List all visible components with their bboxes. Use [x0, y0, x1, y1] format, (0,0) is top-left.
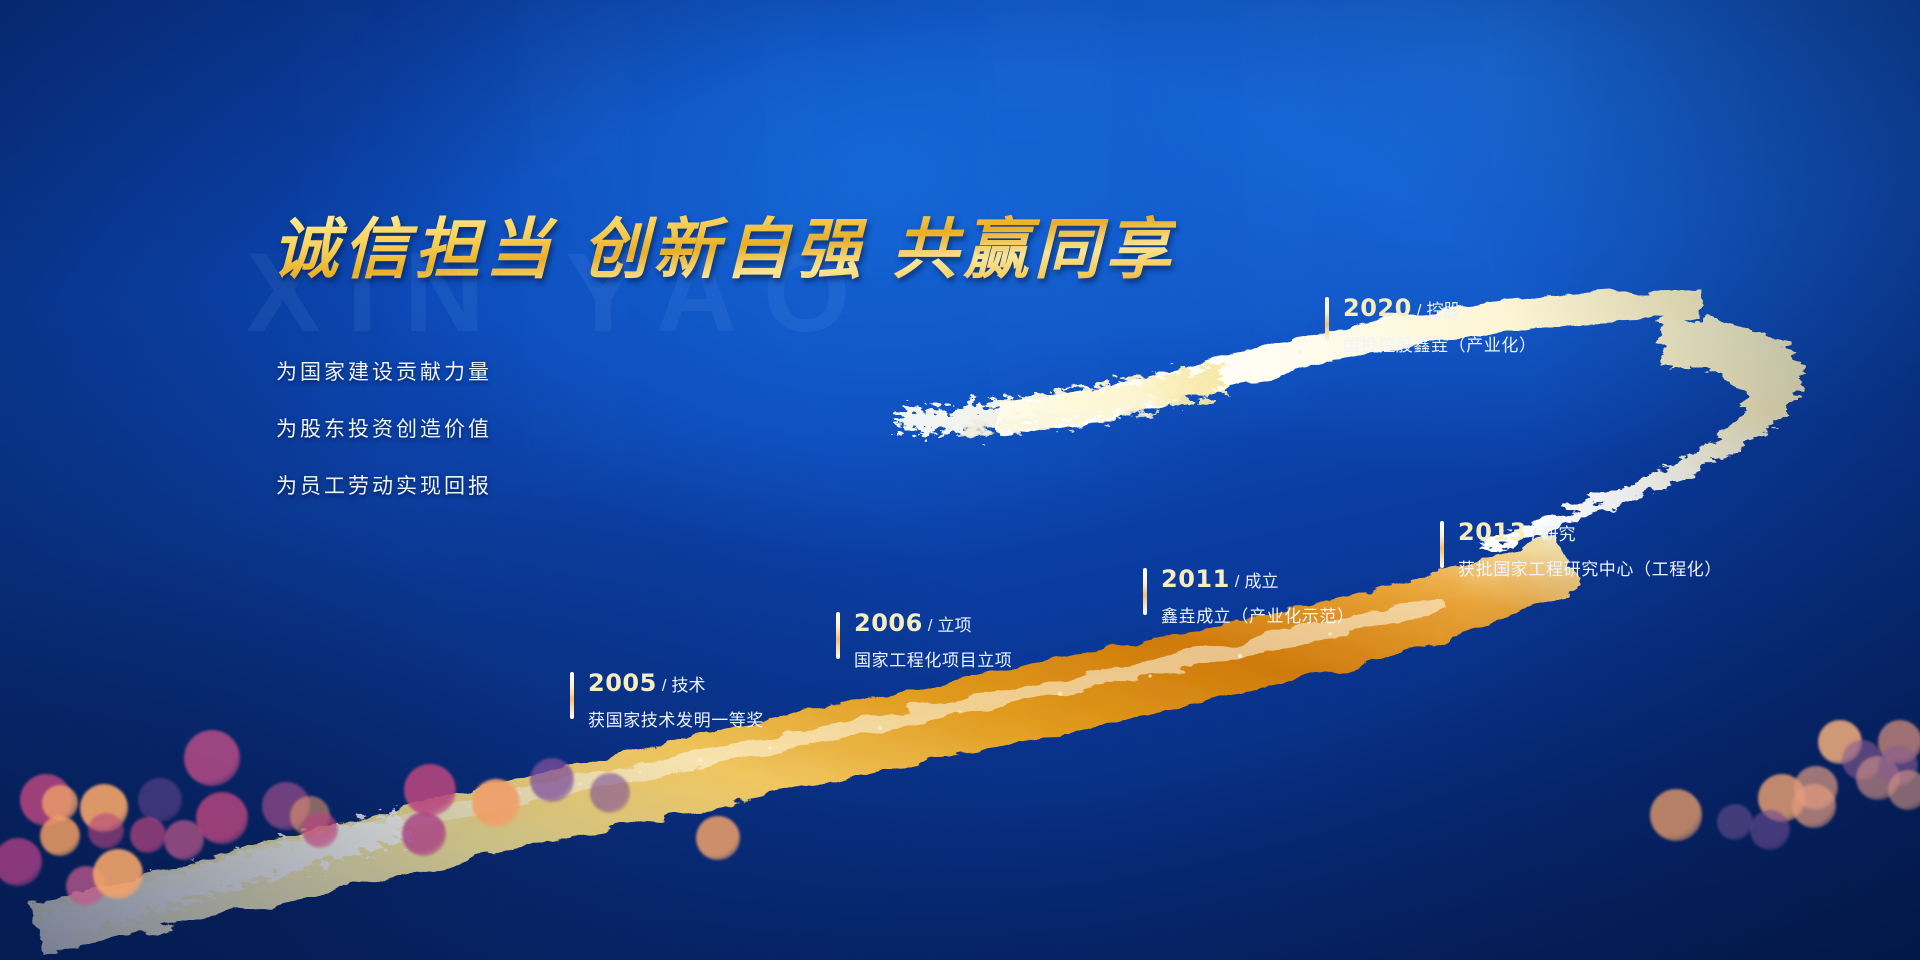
- milestone-description: 国投控股鑫垚（产业化）: [1343, 331, 1537, 356]
- headline-part-1: 诚信担当: [272, 211, 556, 288]
- banner-canvas: XIN YAO 诚信担当创新自强共赢同享 为国家建设贡献力量 为股东投资创造价值…: [0, 0, 1920, 960]
- bokeh-circle: [1750, 810, 1790, 850]
- milestone-tick-icon: [1440, 521, 1444, 568]
- milestone-kind: 控股: [1427, 301, 1461, 321]
- milestone-year: 2005: [588, 669, 657, 697]
- milestone-kind: 立项: [938, 616, 972, 636]
- bokeh-circle: [40, 816, 80, 856]
- bokeh-circle: [130, 817, 166, 853]
- milestone-heading: 2011/成立: [1161, 565, 1355, 593]
- milestone-text: 2005/技术获国家技术发明一等奖: [588, 669, 764, 731]
- page-title: 诚信担当创新自强共赢同享: [272, 196, 1176, 292]
- light-shaft: [760, 0, 820, 960]
- milestone-year: 2006: [854, 609, 923, 637]
- bokeh-circle: [42, 785, 78, 821]
- bokeh-circle: [0, 838, 42, 886]
- milestone-kind: 成立: [1245, 572, 1279, 592]
- milestone-separator: /: [1532, 525, 1537, 544]
- milestone-separator: /: [662, 676, 667, 695]
- bokeh-circle: [472, 779, 520, 827]
- milestone-heading: 2006/立项: [854, 609, 1012, 637]
- slogan-line: 为股东投资创造价值: [276, 413, 492, 443]
- bokeh-circle: [696, 816, 740, 860]
- slogan-line: 为国家建设贡献力量: [276, 356, 492, 386]
- milestone-year: 2011: [1161, 565, 1230, 593]
- milestone-description: 获批国家工程研究中心（工程化）: [1458, 555, 1722, 580]
- bokeh-circle: [590, 773, 630, 813]
- bokeh-circle: [402, 812, 446, 856]
- milestone-kind: 技术: [672, 676, 706, 696]
- milestone-separator: /: [1417, 301, 1422, 320]
- bokeh-circle: [184, 730, 240, 786]
- slogan-list: 为国家建设贡献力量 为股东投资创造价值 为员工劳动实现回报: [276, 356, 492, 527]
- milestone-heading: 2013/研究: [1458, 518, 1722, 546]
- bokeh-circle: [88, 813, 124, 849]
- milestone-year: 2020: [1343, 294, 1412, 322]
- light-shaft: [520, 0, 630, 960]
- headline-part-3: 共赢同享: [892, 211, 1176, 288]
- milestone-tick-icon: [1325, 297, 1329, 344]
- milestone-heading: 2005/技术: [588, 669, 764, 697]
- milestone-description: 获国家技术发明一等奖: [588, 706, 764, 731]
- milestone-description: 国家工程化项目立项: [854, 646, 1012, 671]
- milestone-description: 鑫垚成立（产业化示范）: [1161, 602, 1355, 627]
- bokeh-circle: [93, 849, 143, 899]
- milestone-text: 2011/成立鑫垚成立（产业化示范）: [1161, 565, 1355, 627]
- bokeh-circle: [1792, 784, 1836, 828]
- bokeh-circle: [196, 792, 248, 844]
- bokeh-circle: [404, 764, 456, 816]
- light-shaft: [1480, 0, 1580, 960]
- milestone-text: 2006/立项国家工程化项目立项: [854, 609, 1012, 671]
- bokeh-circle: [302, 812, 338, 848]
- slogan-line: 为员工劳动实现回报: [276, 470, 492, 500]
- light-shaft: [980, 0, 1110, 960]
- bokeh-circle: [1717, 804, 1753, 840]
- milestone-tick-icon: [1143, 568, 1147, 615]
- bokeh-circle: [1888, 770, 1920, 810]
- bokeh-circle: [1650, 789, 1702, 841]
- headline-part-2: 创新自强: [582, 211, 866, 288]
- bokeh-circle: [530, 758, 574, 802]
- milestone-year: 2013: [1458, 518, 1527, 546]
- milestone-text: 2013/研究获批国家工程研究中心（工程化）: [1458, 518, 1722, 580]
- milestone-separator: /: [928, 616, 933, 635]
- bokeh-circle: [138, 778, 182, 822]
- milestone-kind: 研究: [1542, 525, 1576, 545]
- milestone-tick-icon: [836, 612, 840, 659]
- milestone-tick-icon: [570, 672, 574, 719]
- milestone-heading: 2020/控股: [1343, 294, 1537, 322]
- light-shaft: [1240, 0, 1320, 960]
- milestone-separator: /: [1235, 572, 1240, 591]
- milestone-text: 2020/控股国投控股鑫垚（产业化）: [1343, 294, 1537, 356]
